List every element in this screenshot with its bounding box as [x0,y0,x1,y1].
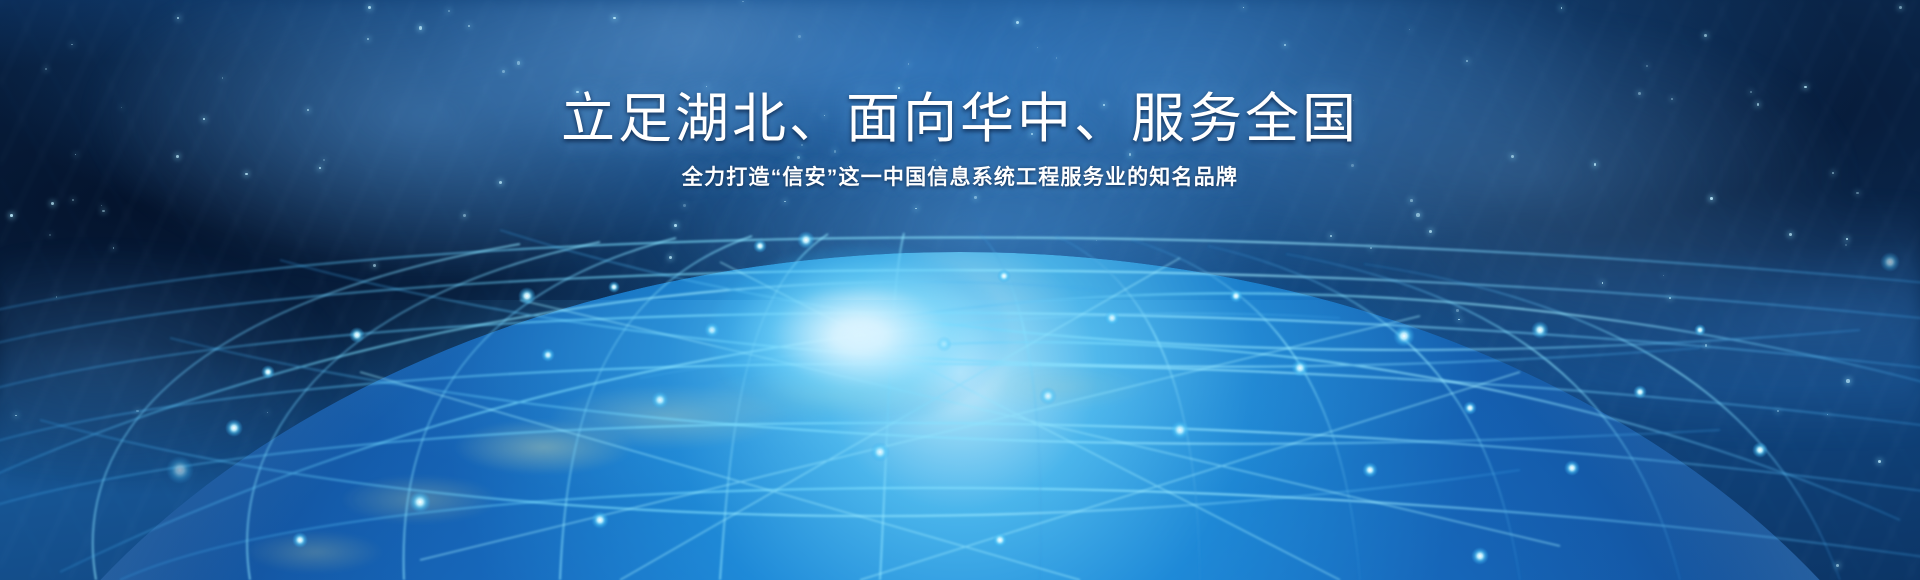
banner-text-block: 立足湖北、面向华中、服务全国 全力打造“信安”这一中国信息系统工程服务业的知名品… [0,88,1920,191]
banner-headline: 立足湖北、面向华中、服务全国 [0,88,1920,152]
hero-banner: 立足湖北、面向华中、服务全国 全力打造“信安”这一中国信息系统工程服务业的知名品… [0,0,1920,580]
network-nodes [166,231,1900,565]
banner-subheadline: 全力打造“信安”这一中国信息系统工程服务业的知名品牌 [0,164,1920,191]
light-burst [710,246,1010,426]
